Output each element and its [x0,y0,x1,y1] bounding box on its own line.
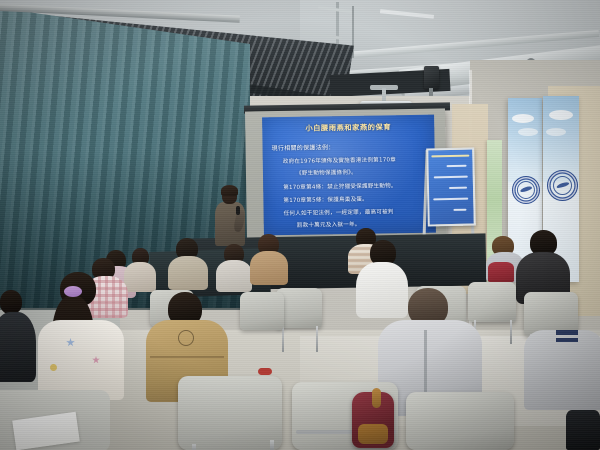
sleeve-stripe [556,330,578,335]
speaker-hair [221,185,238,196]
sleeve-stripe [556,338,578,342]
audience-body [216,260,252,292]
chair-foreground [406,392,514,450]
jacket-shoulder-emblem-icon [178,330,194,346]
audience-body [168,256,208,290]
banner-sky [508,98,542,182]
audience-body-white-polo [356,262,408,318]
secondary-display-board [426,148,476,227]
secondary-display-line [434,176,468,178]
presentation-slide: 小白腰雨燕和家燕的保育 現行相關的保護法例： 政府在1976年頒佈及實施香港法例… [262,115,436,236]
slide-bullet-6: 罰款十萬元及入獄一年。 [297,220,361,229]
jacket-seam [150,356,224,358]
audience-body [0,312,36,382]
chair [240,292,284,330]
chair-leg [510,320,512,344]
secondary-display-line [447,165,467,167]
chair-foreground [178,376,282,450]
backpack-strap [372,388,381,408]
cloud-shape [518,128,538,136]
microphone-icon [236,206,240,215]
chair-leg [192,444,196,450]
audience-lap-bag [566,410,600,450]
wall-speaker-icon [424,66,439,89]
secondary-display-title [431,155,469,158]
secondary-display-line [433,198,468,200]
slide-bullet-0: 現行相關的保護法例： [271,142,334,152]
slide-bullet-2: 《野生動物保護條例》。 [296,168,357,177]
purple-scrunchie [64,286,82,297]
dot-print [50,364,57,371]
audience-body-striped-sleeve [524,330,600,410]
secondary-display-line [453,209,466,211]
seminar-room-photo: 小白腰雨燕和家燕的保育 現行相關的保護法例： 政府在1976年頒佈及實施香港法例… [0,0,600,450]
bird-emblem-icon [512,176,540,204]
chair-leg [282,326,284,352]
chair-leg [316,326,318,352]
child-red-top [488,262,514,282]
bird-emblem-icon [547,170,578,201]
secondary-display-line [449,187,467,189]
audience-body [250,251,288,285]
banner-sky [543,96,579,182]
slide-bullet-4: 第170章第5條：保護鳥巢及蛋。 [283,195,368,204]
cloud-shape [549,110,573,120]
backpack-pocket [358,424,388,444]
red-shoe [258,368,272,375]
cloud-shape [512,114,534,123]
audience-head [0,290,22,314]
chair-leg [270,440,274,450]
chair [468,282,516,322]
audience-body [124,262,156,292]
audience-body-patterned-top [38,320,124,400]
cloud-shape [546,128,566,136]
